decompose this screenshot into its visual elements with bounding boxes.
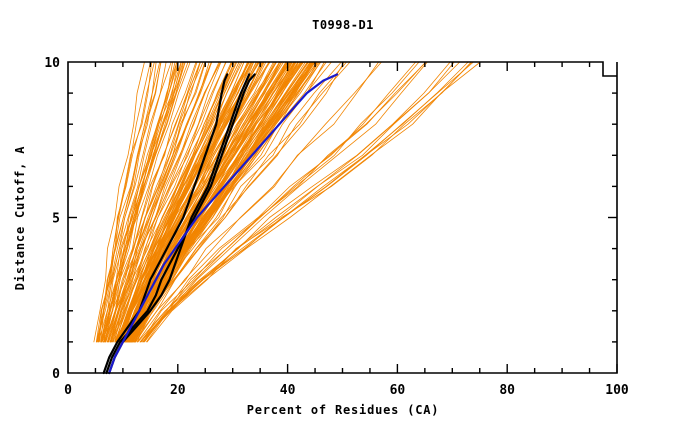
- y-axis-title: Distance Cutoff, A: [13, 146, 27, 290]
- x-axis-title: Percent of Residues (CA): [247, 403, 440, 417]
- chart-screenshot: T0998-D1 020406080100 0510 Percent of Re…: [0, 0, 680, 440]
- x-tick-label: 20: [170, 383, 186, 398]
- page-title: T0998-D1: [312, 18, 374, 32]
- y-tick-label: 10: [44, 56, 60, 71]
- x-tick-label: 40: [280, 383, 296, 398]
- x-tick-label: 100: [605, 383, 629, 398]
- x-tick-label: 60: [390, 383, 406, 398]
- x-tick-label: 80: [499, 383, 515, 398]
- y-tick-label: 5: [52, 212, 60, 227]
- y-tick-label: 0: [52, 367, 60, 382]
- distance-cutoff-plot: T0998-D1 020406080100 0510 Percent of Re…: [0, 0, 680, 440]
- x-tick-label: 0: [64, 383, 72, 398]
- canvas-background: [0, 0, 680, 440]
